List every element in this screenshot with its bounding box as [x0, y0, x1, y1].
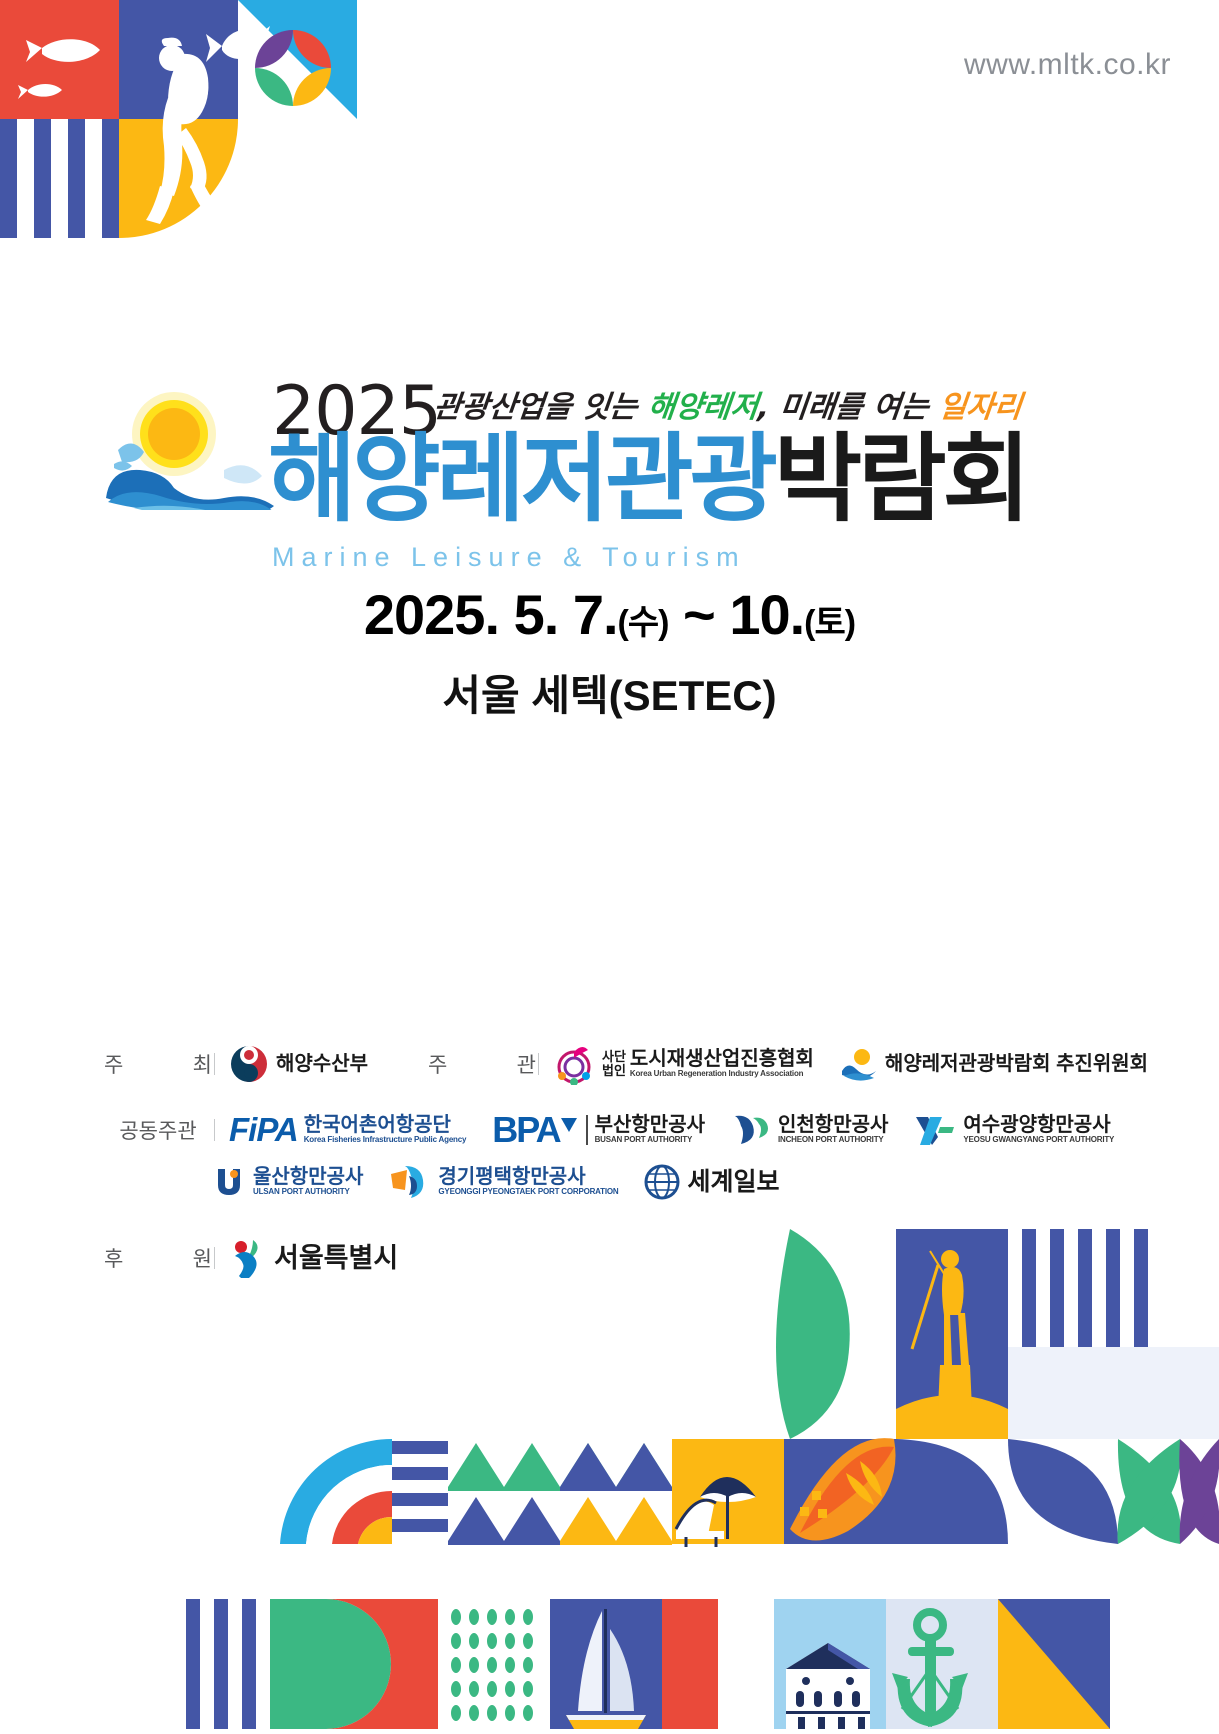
sponsor-name-en: Korea Fisheries Infrastructure Public Ag… [304, 1136, 467, 1145]
title-main-blue: 해양레저관광 [268, 426, 774, 533]
sponsor-item-ulsan-port: 울산항만공사 ULSAN PORT AUTHORITY [212, 1165, 363, 1199]
label-char: 관 [517, 1049, 536, 1079]
tagline: 관광산업을 잇는 해양레저, 미래를 여는 일자리 [432, 382, 1025, 426]
label-char: 주 [428, 1049, 447, 1079]
fish-icon [12, 18, 112, 118]
sponsor-name: 도시재생산업진흥협회 [630, 1049, 814, 1070]
fipa-icon: FiPA [229, 1111, 298, 1149]
tagline-highlight-jobs: 일자리 [937, 390, 1023, 425]
sponsor-name: 인천항만공사 [778, 1115, 888, 1136]
sponsor-name: 부산항만공사 [595, 1115, 705, 1136]
divider [538, 1053, 539, 1075]
sponsor-row-coorganizer-2: 울산항만공사 ULSAN PORT AUTHORITY 경기평택항만공사 GYE… [212, 1158, 1219, 1206]
flower-icon [255, 30, 331, 106]
label-char: 최 [193, 1049, 212, 1079]
ulsan-port-icon [212, 1165, 246, 1199]
title-main-black: 박람회 [774, 426, 1027, 533]
date-start: 2025. 5. 7. [364, 583, 618, 646]
sponsor-label-organizer: 주 관 [428, 1049, 536, 1079]
bpa-triangle-icon [561, 1118, 577, 1134]
sponsor-row-host: 주 최 해양수산부 주 관 [0, 1040, 1219, 1088]
label-char: 주 [104, 1049, 123, 1079]
sponsor-name: 여수광양항만공사 [963, 1115, 1114, 1136]
date-separator: ~ [668, 583, 729, 646]
sponsor-item-yeosu-port: 여수광양항만공사 YEOSU GWANGYANG PORT AUTHORITY [914, 1113, 1114, 1147]
website-url[interactable]: www.mltk.co.kr [964, 48, 1171, 82]
sponsor-name: 경기평택항만공사 [438, 1167, 618, 1188]
stripe-tile [0, 119, 119, 238]
kuria-icon [553, 1043, 595, 1085]
sponsor-name: 세계일보 [687, 1169, 779, 1195]
page-title: 해양레저관광박람회 [268, 432, 1027, 528]
sponsor-prefix: 사단법인 [602, 1050, 626, 1077]
top-left-decoration [0, 0, 400, 250]
date-start-dayofweek: (수) [618, 604, 669, 642]
incheon-port-icon [731, 1112, 771, 1148]
tagline-highlight-leisure: 해양레저 [646, 390, 760, 425]
sponsor-item-kuria: 사단법인 도시재생산업진흥협회 Korea Urban Regeneration… [553, 1043, 814, 1085]
divider [214, 1053, 215, 1075]
sponsor-name: 해양레저관광박람회 추진위원회 [885, 1054, 1148, 1075]
sponsor-item-bpa: BPA 부산항만공사 BUSAN PORT AUTHORITY [492, 1109, 705, 1151]
date-end: 10. [729, 583, 804, 646]
sponsor-name: 해양수산부 [276, 1054, 368, 1075]
sponsor-label-host: 주 최 [104, 1049, 212, 1079]
date-end-dayofweek: (토) [804, 604, 855, 642]
sponsor-name: 한국어촌어항공단 [304, 1115, 467, 1136]
title-block: 2025 관광산업을 잇는 해양레저, 미래를 여는 일자리 해양레저관광박람회… [0, 360, 1219, 550]
event-venue: 서울 세텍(SETEC) [0, 662, 1219, 723]
pyeongtaek-port-icon [389, 1164, 431, 1200]
event-date: 2025. 5. 7.(수) ~ 10.(토) [0, 582, 1219, 647]
divider [214, 1119, 215, 1141]
bottom-mosaic-icon [0, 1229, 1219, 1729]
sponsor-item-committee: 해양레저관광박람회 추진위원회 [840, 1047, 1148, 1081]
sponsor-item-mof: 해양수산부 [229, 1044, 368, 1084]
sponsor-item-pyeongtaek-port: 경기평택항만공사 GYEONGGI PYEONGTAEK PORT CORPOR… [389, 1164, 618, 1200]
yeosu-port-icon [914, 1113, 956, 1147]
sponsor-name: 울산항만공사 [253, 1167, 363, 1188]
bpa-icon: BPA [492, 1109, 559, 1151]
english-subtitle: Marine Leisure & Tourism [272, 542, 746, 573]
sponsor-name-en: INCHEON PORT AUTHORITY [778, 1136, 888, 1145]
sponsor-name-en: GYEONGGI PYEONGTAEK PORT CORPORATION [438, 1188, 618, 1197]
sun-wave-logo-icon [96, 390, 281, 510]
segye-ilbo-icon [644, 1164, 680, 1200]
mltk-wave-icon [840, 1047, 878, 1081]
taegeuk-icon [229, 1044, 269, 1084]
sponsor-name-en: YEOSU GWANGYANG PORT AUTHORITY [963, 1136, 1114, 1145]
tagline-part-2: , 미래를 여는 [756, 390, 940, 425]
sponsor-name-en: ULSAN PORT AUTHORITY [253, 1188, 363, 1197]
sponsor-name-en: Korea Urban Regeneration Industry Associ… [630, 1070, 814, 1079]
sponsor-name-en: BUSAN PORT AUTHORITY [595, 1136, 705, 1145]
bottom-decoration [0, 1229, 1219, 1729]
sponsor-label-coorganizer: 공동주관 [104, 1115, 212, 1145]
scuba-diver-icon [128, 36, 238, 226]
sponsor-item-segye-ilbo: 세계일보 [644, 1164, 779, 1200]
sponsor-row-coorganizer: 공동주관 FiPA 한국어촌어항공단 Korea Fisheries Infra… [0, 1106, 1219, 1154]
sponsor-item-incheon-port: 인천항만공사 INCHEON PORT AUTHORITY [731, 1112, 888, 1148]
tagline-part-1: 관광산업을 잇는 [432, 390, 650, 425]
sponsor-item-fipa: FiPA 한국어촌어항공단 Korea Fisheries Infrastruc… [229, 1111, 466, 1149]
